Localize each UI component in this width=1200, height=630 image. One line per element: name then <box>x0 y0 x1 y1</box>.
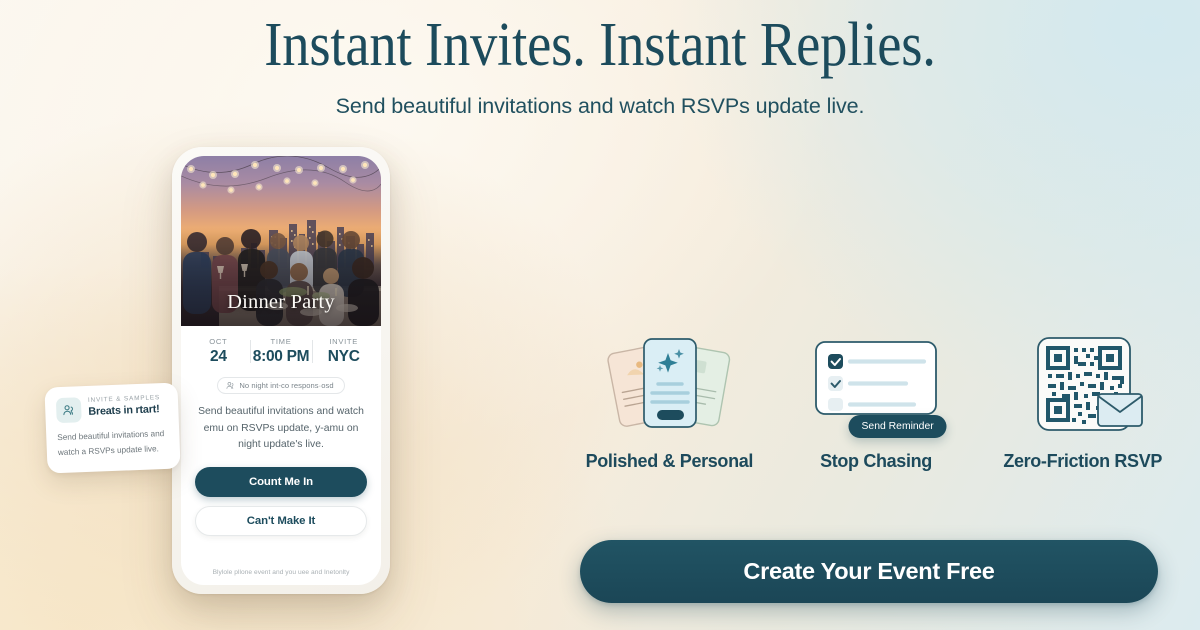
people-group-icon <box>56 397 82 423</box>
count-me-in-button[interactable]: Count Me In <box>195 467 367 497</box>
floating-card-title: Breats in rtart! <box>88 403 161 418</box>
meta-value: NYC <box>314 348 373 366</box>
page-subheadline: Send beautiful invitations and watch RSV… <box>0 91 1200 121</box>
meta-value: 24 <box>189 348 248 366</box>
floating-card-body: Send beautiful invitations and watch a R… <box>57 427 168 460</box>
people-group-glyph-icon <box>62 403 75 416</box>
send-reminder-badge[interactable]: Send Reminder <box>849 415 947 438</box>
feature-label: Zero-Friction RSVP <box>1003 451 1162 472</box>
meta-label: TIME <box>252 337 311 346</box>
chip-text: No night int-co respons·osd <box>239 381 333 390</box>
phone-footnote: Blylole pllone event and you uee and Ine… <box>181 569 381 585</box>
rsvp-status-chip: No night int-co respons·osd <box>217 377 344 394</box>
meta-value: 8:00 PM <box>252 348 311 366</box>
qr-code-envelope-icon <box>979 330 1186 442</box>
phone-mockup: Dinner Party Oct 24 TIME 8:00 PM INVITE … <box>172 147 390 594</box>
stacked-cards-sparkle-graphic <box>600 331 738 441</box>
features-row: Polished & Personal Send Reminder Stop C… <box>566 330 1186 472</box>
event-hero-photo: Dinner Party <box>181 156 381 326</box>
feature-zero-friction-rsvp: Zero-Friction RSVP <box>979 330 1186 472</box>
meta-label: INVITE <box>314 337 373 346</box>
event-description: Send beautiful invitations and watch emu… <box>181 394 381 454</box>
feature-stop-chasing: Send Reminder Stop Chasing <box>773 330 980 472</box>
checklist-card-icon: Send Reminder <box>773 330 980 442</box>
people-icon <box>226 381 235 390</box>
event-meta-row: Oct 24 TIME 8:00 PM INVITE NYC <box>181 326 381 376</box>
event-title: Dinner Party <box>181 291 381 314</box>
phone-screen: Dinner Party Oct 24 TIME 8:00 PM INVITE … <box>181 156 381 585</box>
floating-card-header: INVITE & SAMPLES Breats in rtart! <box>56 394 167 423</box>
event-meta-date: Oct 24 <box>187 337 250 366</box>
envelope-icon <box>1098 394 1142 426</box>
floating-card-kicker: INVITE & SAMPLES <box>88 394 160 404</box>
qr-envelope-graphic <box>1018 332 1148 440</box>
feature-polished-personal: Polished & Personal <box>566 330 773 472</box>
floating-notification-card: INVITE & SAMPLES Breats in rtart! Send b… <box>44 382 180 473</box>
cant-make-it-button[interactable]: Can't Make It <box>195 506 367 536</box>
feature-label: Stop Chasing <box>820 451 932 472</box>
event-meta-invite: INVITE NYC <box>312 337 375 366</box>
meta-label: Oct <box>189 337 248 346</box>
rsvp-buttons: Count Me In Can't Make It <box>181 454 381 536</box>
create-event-cta-button[interactable]: Create Your Event Free <box>580 540 1158 603</box>
rsvp-status-chip-wrapper: No night int-co respons·osd <box>181 377 381 394</box>
page-headline: Instant Invites. Instant Replies. <box>72 8 1128 82</box>
stacked-cards-sparkle-icon <box>566 330 773 442</box>
floating-card-text: INVITE & SAMPLES Breats in rtart! <box>88 394 161 418</box>
event-meta-time: TIME 8:00 PM <box>250 337 313 366</box>
feature-label: Polished & Personal <box>586 451 753 472</box>
